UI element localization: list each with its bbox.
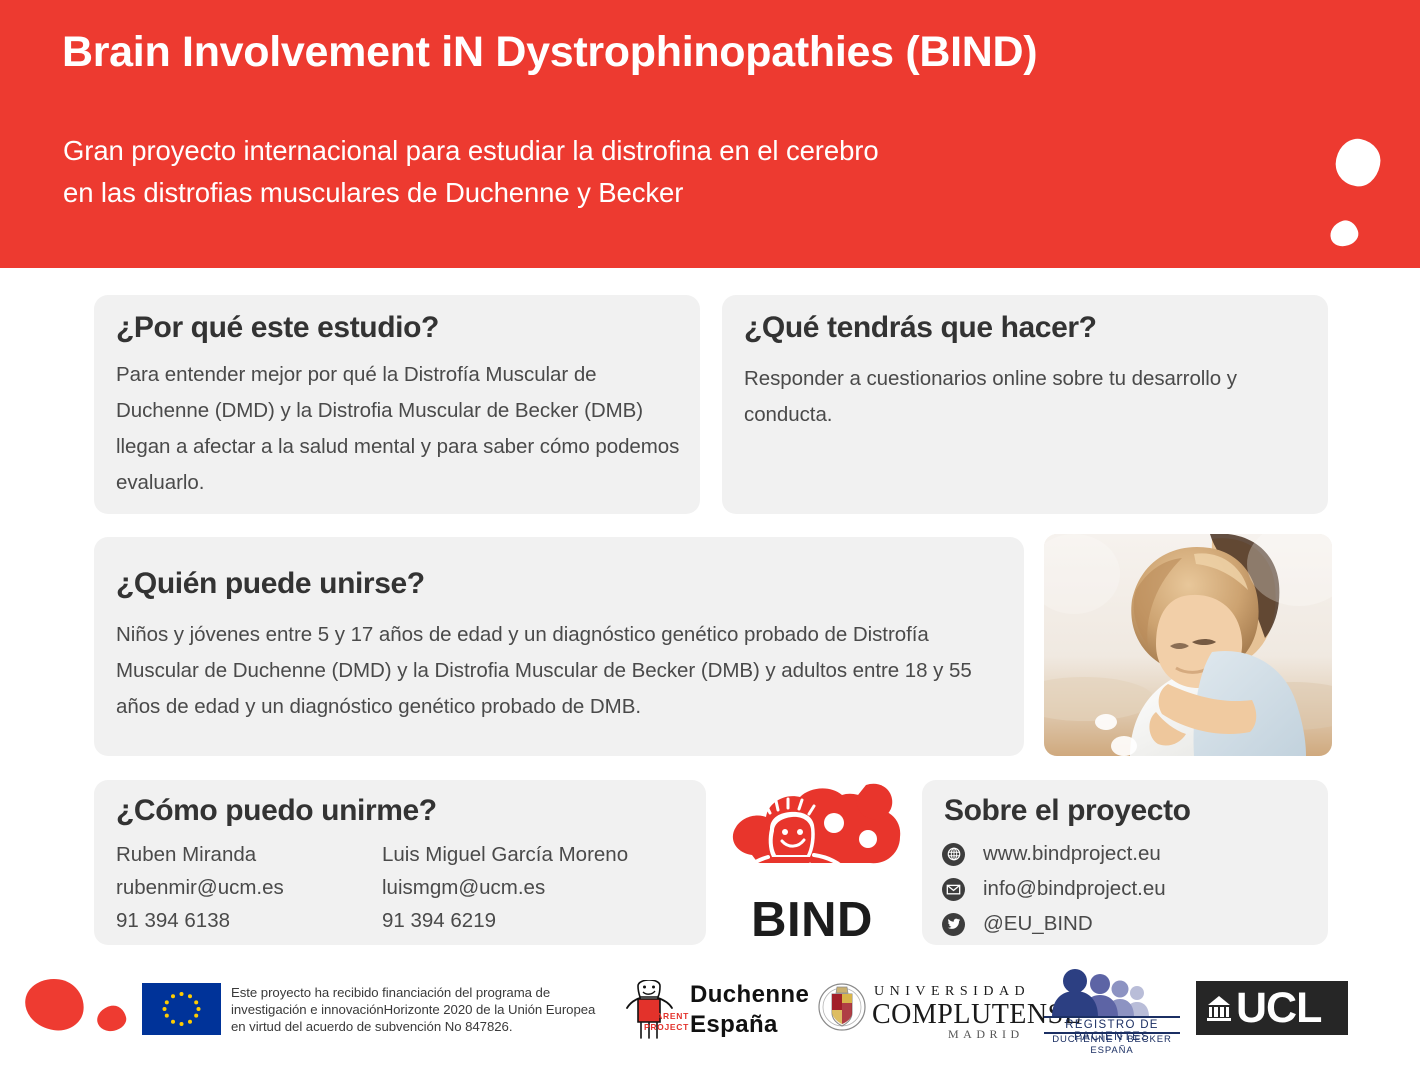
envelope-icon [942, 878, 965, 901]
card-why-body: Para entender mejor por qué la Distrofía… [116, 357, 686, 501]
ucl-portico-icon [1206, 994, 1232, 1024]
page-title: Brain Involvement iN Dystrophinopathies … [62, 28, 1037, 77]
logo-duchenne-espana: PARENT PROJECT Duchenne España [622, 975, 798, 1047]
duchenne-parent-project-label: PARENT PROJECT [623, 1011, 689, 1033]
photo-illustration [1044, 534, 1332, 756]
registro-divider-top [1044, 1016, 1180, 1018]
about-link-website[interactable]: www.bindproject.eu [942, 838, 1166, 870]
card-about-title: Sobre el proyecto [944, 794, 1191, 828]
contact-email[interactable]: rubenmir@ucm.es [116, 871, 284, 904]
about-link-label: info@bindproject.eu [983, 877, 1166, 901]
duchenne-wordmark-line-2: España [690, 1011, 778, 1039]
eu-funding-text: Este proyecto ha recibido financiación d… [231, 984, 601, 1035]
about-link-label: @EU_BIND [983, 912, 1093, 936]
logo-registro-pacientes: REGISTRO DE PACIENTES DUCHENNE Y BECKER … [1042, 969, 1182, 1049]
duchenne-parent-label: PARENT [623, 1011, 689, 1022]
logo-universidad-complutense: UNIVERSIDAD COMPLUTENSE MADRID [818, 977, 1028, 1043]
ucl-wordmark: UCL [1236, 983, 1321, 1033]
decorative-blob-white-large [1332, 135, 1385, 190]
registro-people-icon [1042, 969, 1182, 1019]
bind-cloud-figure-icon [714, 783, 910, 903]
contact-person-1: Ruben Miranda rubenmir@ucm.es 91 394 613… [116, 838, 284, 937]
about-link-twitter[interactable]: @EU_BIND [942, 908, 1166, 940]
complutense-crest-icon [818, 981, 866, 1033]
decorative-blob-white-small [1327, 217, 1361, 249]
card-why-title: ¿Por qué este estudio? [116, 311, 439, 345]
contact-phone[interactable]: 91 394 6219 [382, 904, 628, 937]
registro-line-2: DUCHENNE Y BECKER ESPAÑA [1044, 1034, 1180, 1056]
photo-mother-and-child [1044, 534, 1332, 756]
bind-logo: BIND [714, 783, 910, 945]
page-subtitle-line-2: en las distrofias musculares de Duchenne… [63, 172, 879, 214]
page-subtitle-line-1: Gran proyecto internacional para estudia… [63, 130, 879, 172]
card-who-title: ¿Quién puede unirse? [116, 567, 425, 601]
card-what-to-do: ¿Qué tendrás que hacer? Responder a cues… [722, 295, 1328, 514]
ucm-line-madrid: MADRID [948, 1027, 1024, 1042]
contact-name: Luis Miguel García Moreno [382, 838, 628, 871]
contact-person-2: Luis Miguel García Moreno luismgm@ucm.es… [382, 838, 628, 937]
bind-wordmark: BIND [714, 895, 910, 945]
contact-name: Ruben Miranda [116, 838, 284, 871]
eu-flag-icon [142, 983, 221, 1035]
card-who-can-join: ¿Quién puede unirse? Niños y jóvenes ent… [94, 537, 1024, 756]
globe-icon [942, 843, 965, 866]
duchenne-project-label: PROJECT [623, 1022, 689, 1033]
duchenne-wordmark-line-1: Duchenne [690, 981, 809, 1009]
twitter-icon [942, 913, 965, 936]
contact-email[interactable]: luismgm@ucm.es [382, 871, 628, 904]
about-link-email[interactable]: info@bindproject.eu [942, 873, 1166, 905]
header-banner: Brain Involvement iN Dystrophinopathies … [0, 0, 1420, 268]
about-link-label: www.bindproject.eu [983, 842, 1161, 866]
ucm-line-universidad: UNIVERSIDAD [874, 984, 1030, 1000]
card-what-title: ¿Qué tendrás que hacer? [744, 311, 1097, 345]
page-subtitle: Gran proyecto internacional para estudia… [63, 130, 879, 214]
card-what-body: Responder a cuestionarios online sobre t… [744, 361, 1304, 433]
card-about-project: Sobre el proyecto www.bindproject.eu inf… [922, 780, 1328, 945]
card-how-to-join: ¿Cómo puedo unirme? Ruben Miranda rubenm… [94, 780, 706, 945]
logo-ucl: UCL [1196, 981, 1348, 1035]
card-why-this-study: ¿Por qué este estudio? Para entender mej… [94, 295, 700, 514]
about-links-list: www.bindproject.eu info@bindproject.eu @… [942, 838, 1166, 943]
card-how-title: ¿Cómo puedo unirme? [116, 794, 437, 828]
contact-phone[interactable]: 91 394 6138 [116, 904, 284, 937]
card-who-body: Niños y jóvenes entre 5 y 17 años de eda… [116, 617, 1006, 725]
